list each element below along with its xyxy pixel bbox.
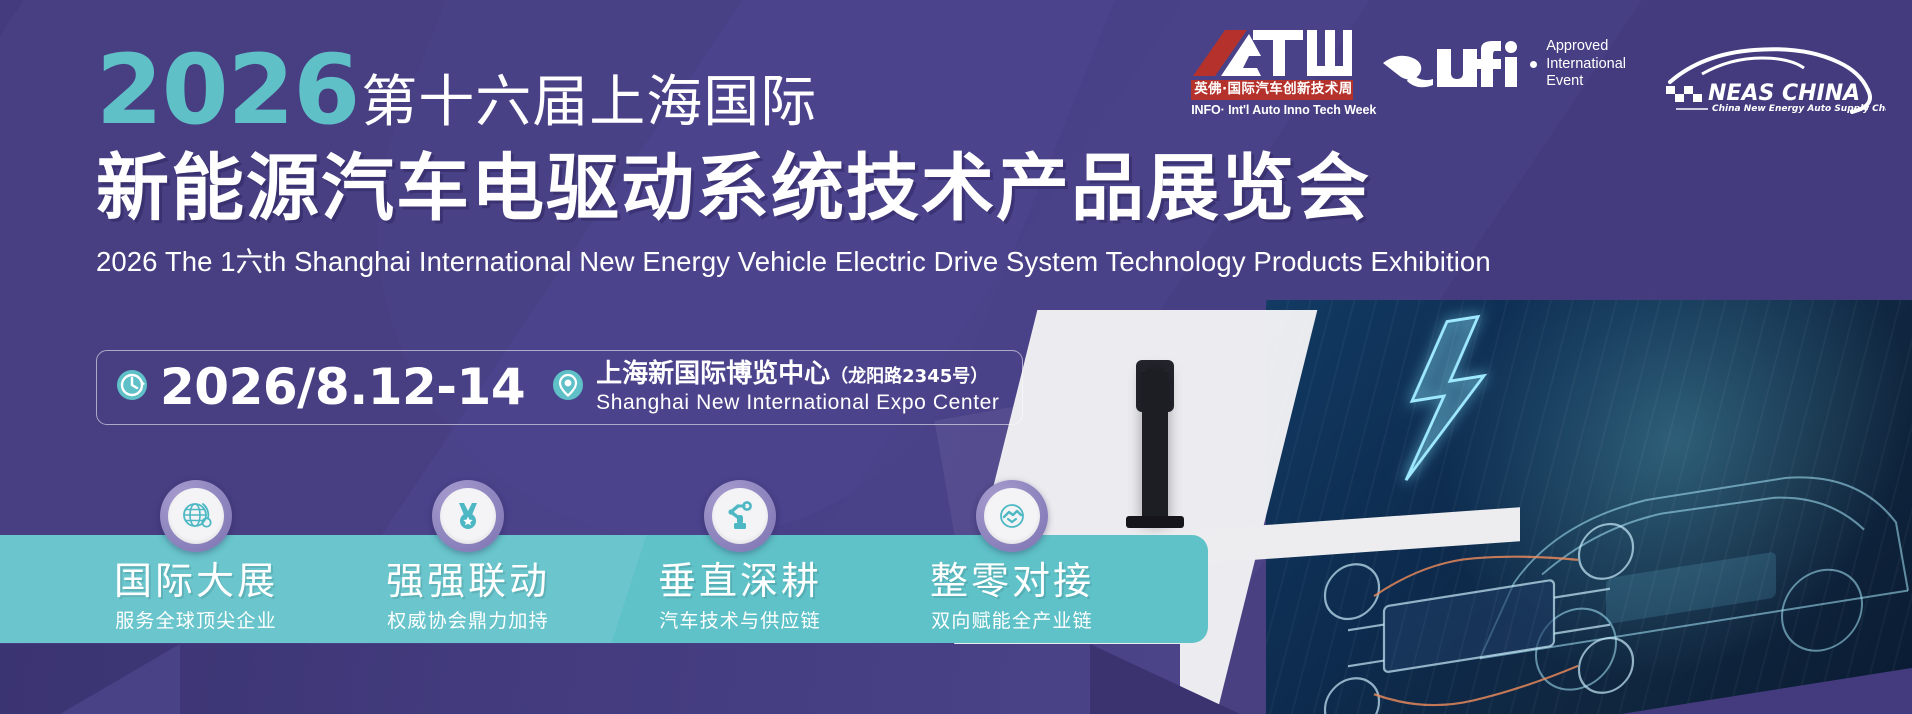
photo-image (1266, 300, 1912, 714)
headline-block: 2026 第十六届上海国际 新能源汽车电驱动系统技术产品展览会 2026 The… (96, 44, 1491, 279)
ufi-approved-text: Approved International Event (1546, 38, 1626, 91)
ufi-line-1: Approved (1546, 38, 1626, 56)
location-pin-icon (551, 368, 585, 407)
ufi-separator-dot (1530, 61, 1537, 68)
logo-neas-china: NEAS CHINA China New Energy Auto Supply … (1654, 26, 1886, 114)
feature-badge (160, 480, 232, 552)
medal-icon (440, 488, 496, 544)
venue-chinese-name: 上海新国际博览中心 (596, 359, 830, 389)
neas-china-mark-icon: NEAS CHINA China New Energy Auto Supply … (1654, 32, 1886, 114)
feature-subtitle: 权威协会鼎力加持 (353, 606, 583, 633)
feature-badge (976, 480, 1048, 552)
car-outline-graphic (1456, 398, 1912, 714)
lightning-bolt-icon (1352, 303, 1542, 493)
feature-title: 国际大展 (81, 560, 311, 603)
handshake-icon (984, 488, 1040, 544)
feature-item: 整零对接 双向赋能全产业链 (897, 480, 1127, 633)
headline-line-1: 2026 第十六届上海国际 (96, 44, 1491, 140)
svg-text:NEAS CHINA: NEAS CHINA (1708, 81, 1860, 106)
year-text: 2026 (96, 44, 359, 136)
date-venue-bar: 2026/8.12-14 上海新国际博览中心（龙阳路2345号） Shangha… (96, 350, 1023, 425)
date-group: 2026/8.12-14 (115, 359, 525, 415)
robot-arm-icon (712, 488, 768, 544)
feature-list: 国际大展 服务全球顶尖企业 强强联动 权威协会鼎力加持 (0, 480, 1208, 660)
feature-badge (704, 480, 776, 552)
feature-title: 强强联动 (353, 560, 583, 603)
title-english: 2026 The 1六th Shanghai International New… (96, 239, 1491, 279)
event-date: 2026/8.12-14 (160, 362, 525, 412)
bottom-triangle-left (60, 644, 180, 714)
feature-subtitle: 汽车技术与供应链 (625, 606, 855, 633)
ufi-line-2: International (1546, 56, 1626, 74)
title-chinese: 新能源汽车电驱动系统技术产品展览会 (96, 150, 1491, 227)
clock-icon (115, 368, 149, 407)
feature-title: 垂直深耕 (625, 560, 855, 603)
event-banner: 英佛·国际汽车创新技术周 INFO· Int'l Auto Inno Tech … (0, 0, 1912, 714)
feature-item: 垂直深耕 汽车技术与供应链 (625, 480, 855, 633)
feature-title: 整零对接 (897, 560, 1127, 603)
feature-item: 国际大展 服务全球顶尖企业 (81, 480, 311, 633)
venue-group: 上海新国际博览中心（龙阳路2345号） Shanghai New Interna… (551, 359, 999, 415)
ufi-line-3: Event (1546, 73, 1626, 91)
globe-icon (168, 488, 224, 544)
venue-address: （龙阳路2345号） (830, 366, 988, 387)
feature-badge (432, 480, 504, 552)
feature-subtitle: 双向赋能全产业链 (897, 606, 1127, 633)
feature-subtitle: 服务全球顶尖企业 (81, 606, 311, 633)
venue-english: Shanghai New International Expo Center (596, 391, 999, 416)
venue-chinese: 上海新国际博览中心（龙阳路2345号） (596, 359, 988, 389)
feature-item: 强强联动 权威协会鼎力加持 (353, 480, 583, 633)
bottom-triangle-right (1090, 644, 1240, 714)
edition-text: 第十六届上海国际 (361, 57, 817, 138)
venue-text-block: 上海新国际博览中心（龙阳路2345号） Shanghai New Interna… (596, 359, 999, 415)
